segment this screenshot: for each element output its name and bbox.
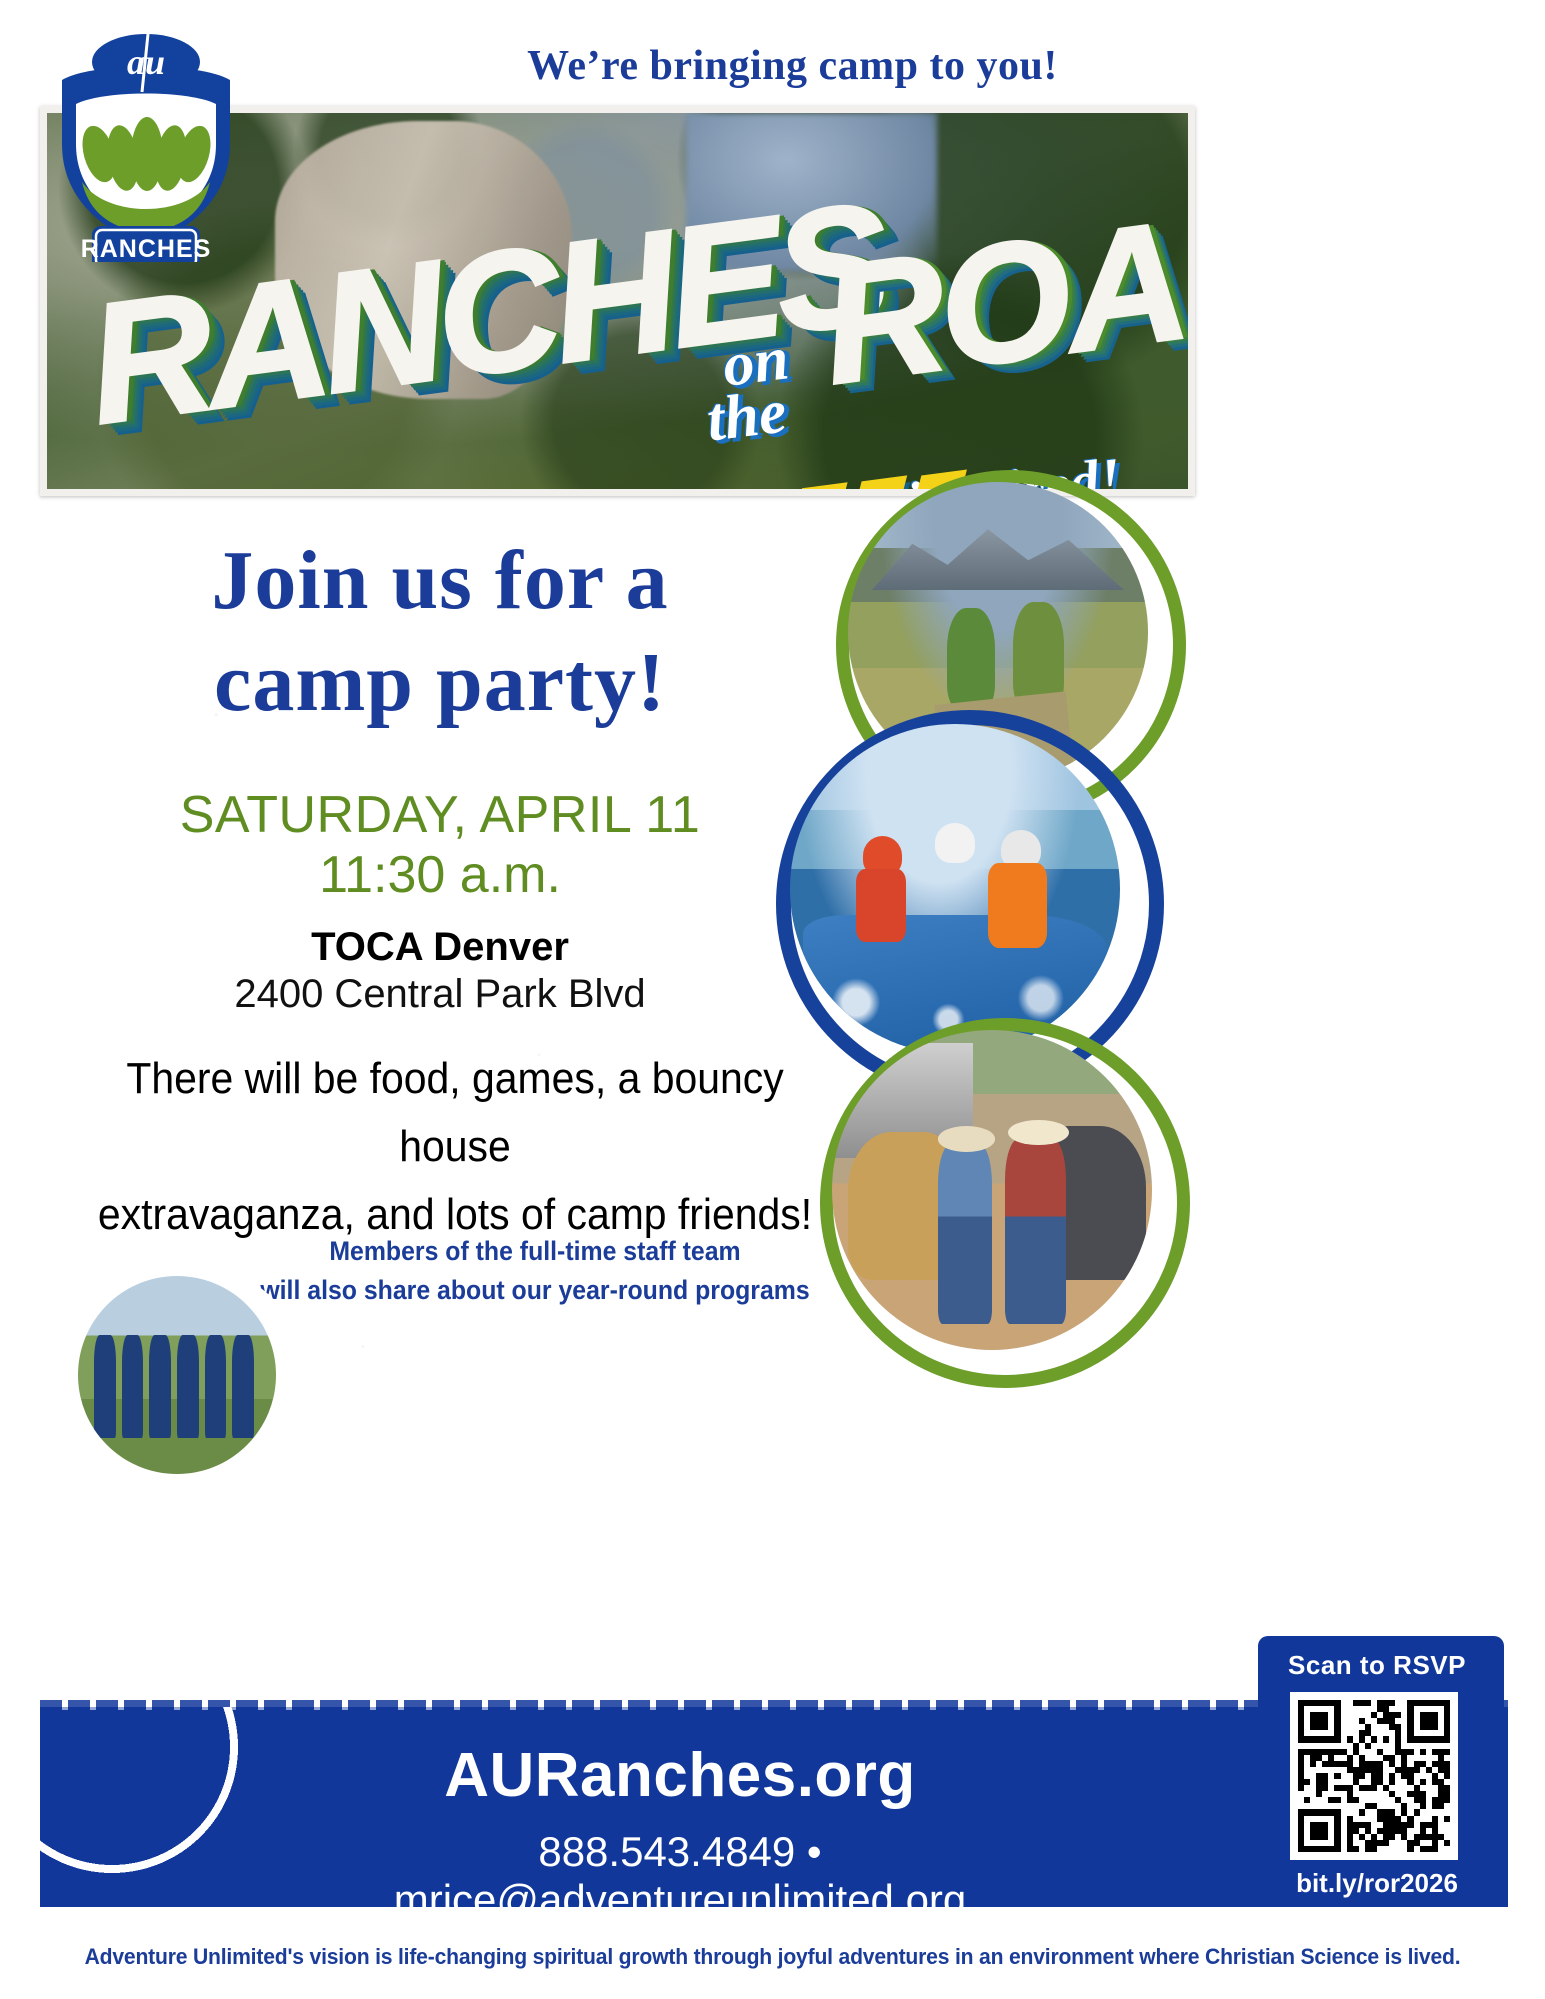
contact-line[interactable]: 888.543.4849 • mrice@adventureunlimited.… [260,1828,1100,1924]
venue-address: 2400 Central Park Blvd [60,972,820,1017]
event-time: 11:30 a.m. [60,845,820,905]
event-description: There will be food, games, a bouncy hous… [69,1045,841,1250]
banner-dash-accents [141,435,1044,496]
headline-line-1: Join us for a [60,530,820,632]
page-title: Join us for a camp party! [60,530,820,735]
photo-full-time-staff-team-group [78,1276,276,1474]
event-description-line-1: There will be food, games, a bouncy hous… [69,1045,841,1181]
banner-word-road: ROAD [815,194,1195,396]
staff-note: Members of the full-time staff team will… [227,1232,843,1310]
event-date: SATURDAY, APRIL 11 [60,785,820,845]
banner-word-the: the [703,376,790,456]
headline-line-2: camp party! [60,632,820,734]
venue-name: TOCA Denver [60,925,820,970]
short-url-label: bit.ly/ror2026 [1262,1868,1492,1899]
photo-kids-whitewater-rafting [790,724,1120,1054]
scan-to-rsvp-label: Scan to RSVP [1262,1650,1492,1681]
photo-ranch-staff-with-horses [832,1030,1152,1350]
staff-note-line-1: Members of the full-time staff team [227,1232,843,1271]
staff-note-line-2: will also share about our year-round pro… [227,1271,843,1310]
logo-wordmark-text: RANCHES [81,235,212,262]
website-link[interactable]: AURanches.org [300,1740,1060,1811]
shield-icon: au RANCHES [52,32,240,262]
vision-statement: Adventure Unlimited's vision is life-cha… [31,1944,1514,1970]
flyer-page: We’re bringing camp to you! RANCHES on t… [0,0,1545,1999]
au-ranches-logo: au RANCHES [52,32,240,262]
qr-code[interactable] [1290,1692,1458,1860]
